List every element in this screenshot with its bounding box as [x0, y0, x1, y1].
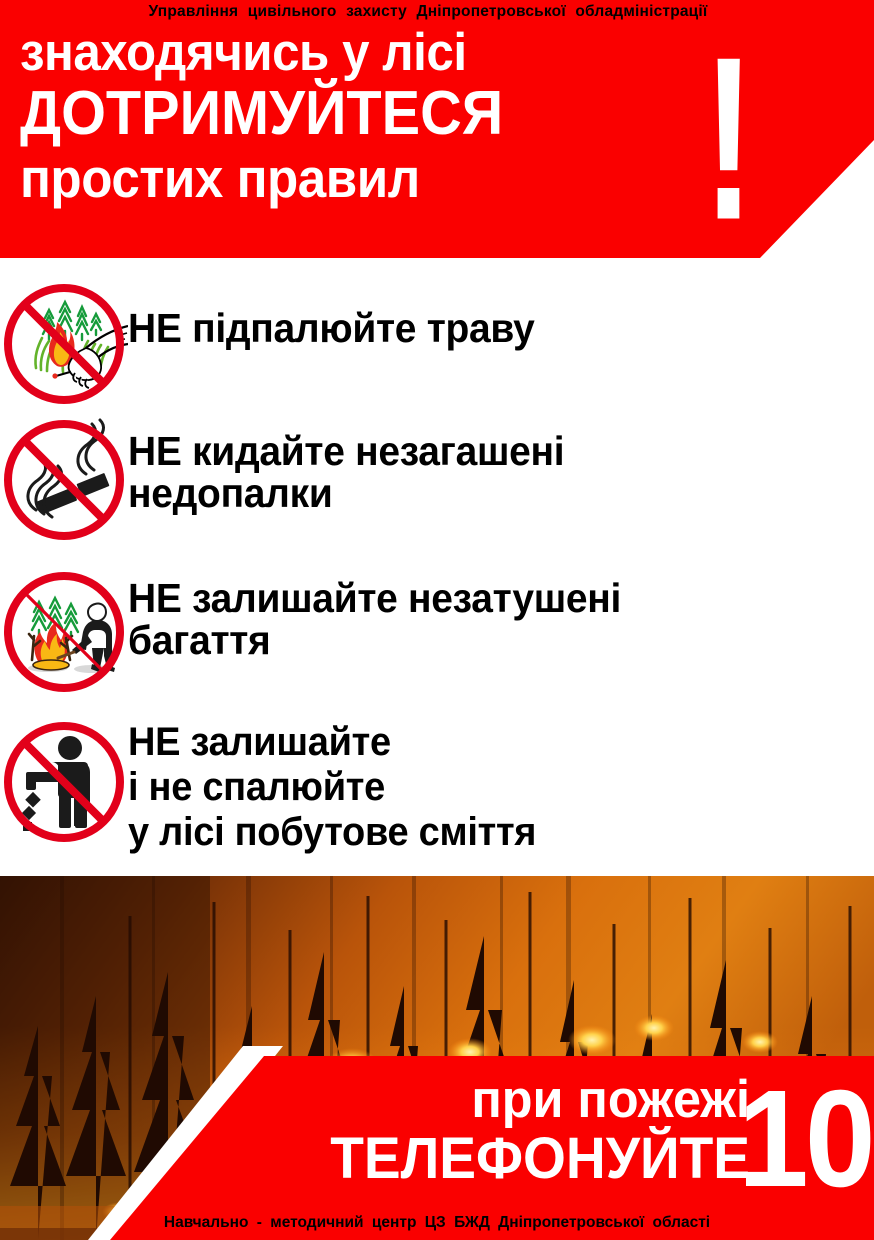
exclamation-mark: ! — [703, 22, 755, 254]
rule-label: НЕ підпалюйте траву — [128, 278, 837, 350]
fire-safety-poster: Управління цивільного захисту Дніпропетр… — [0, 0, 874, 1240]
headline-line-1: знаходячись у лісі — [20, 26, 671, 79]
no-burning-grass-icon — [0, 278, 128, 408]
credit-line: Навчально - методичний центр ЦЗ БЖД Дніп… — [0, 1214, 874, 1232]
rules-list: НЕ підпалюйте траву — [0, 278, 874, 864]
headline-line-3: простих правил — [20, 151, 671, 206]
no-campfire-icon — [0, 564, 128, 698]
headline-line-2: ДОТРИМУЙТЕСЯ — [20, 83, 671, 145]
no-littering-icon — [0, 714, 128, 848]
rule-item: НЕ кидайте незагашені недопалки — [0, 414, 874, 564]
footer-line-1: при пожежі — [351, 1073, 750, 1126]
footer-line-2: ТЕЛЕФОНУЙТЕ — [180, 1130, 750, 1188]
rule-item: НЕ залишайте незатушені багаття — [0, 564, 874, 714]
rule-item: НЕ підпалюйте траву — [0, 278, 874, 414]
rule-label: НЕ залишайте і не спалюйте у лісі побуто… — [128, 714, 837, 854]
no-smoking-icon — [0, 414, 128, 546]
emergency-number: 101 — [738, 1070, 874, 1208]
rule-label: НЕ кидайте незагашені недопалки — [128, 414, 837, 515]
rule-item: НЕ залишайте і не спалюйте у лісі побуто… — [0, 714, 874, 864]
rule-label: НЕ залишайте незатушені багаття — [128, 564, 837, 662]
headline-block: знаходячись у лісі ДОТРИМУЙТЕСЯ простих … — [20, 26, 720, 206]
